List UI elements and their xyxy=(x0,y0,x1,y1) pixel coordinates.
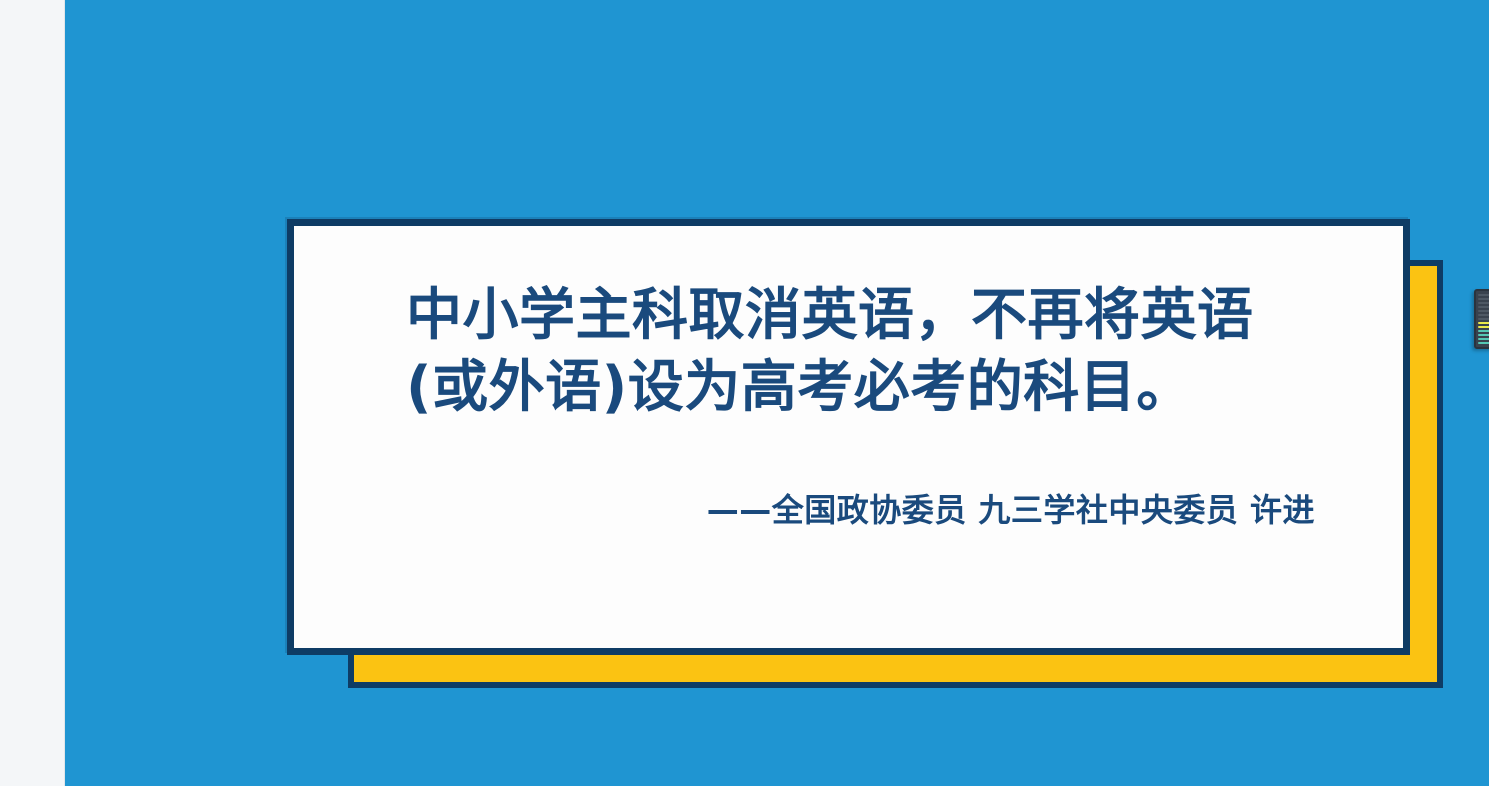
level-meter-segment xyxy=(1478,314,1489,316)
level-meter-segment xyxy=(1478,326,1489,328)
level-meter-segment xyxy=(1478,342,1489,344)
level-meter-segment xyxy=(1478,330,1489,332)
level-meter-segment xyxy=(1478,306,1489,308)
slide-stage: 中小学主科取消英语，不再将英语(或外语)设为高考必考的科目。 ——全国政协委员 … xyxy=(0,0,1489,786)
level-meter-segment xyxy=(1478,338,1489,340)
headline-line-2: (或外语)设为高考必考的科目。 xyxy=(406,355,1193,420)
level-meter-segment xyxy=(1478,294,1489,296)
quote-card: 中小学主科取消英语，不再将英语(或外语)设为高考必考的科目。 ——全国政协委员 … xyxy=(287,219,1410,655)
level-meter-widget[interactable] xyxy=(1474,289,1489,349)
quote-card-content: 中小学主科取消英语，不再将英语(或外语)设为高考必考的科目。 ——全国政协委员 … xyxy=(294,226,1403,648)
level-meter-segment xyxy=(1478,322,1489,324)
headline-line-1: 中小学主科取消英语，不再将英语 xyxy=(406,283,1254,348)
page-left-gutter xyxy=(0,0,65,786)
level-meter-segment xyxy=(1478,310,1489,312)
attribution-text: ——全国政协委员 九三学社中央委员 许进 xyxy=(707,485,1315,531)
attribution-row: ——全国政协委员 九三学社中央委员 许进 xyxy=(406,485,1343,531)
level-meter-segment xyxy=(1478,334,1489,336)
slide-blue-canvas: 中小学主科取消英语，不再将英语(或外语)设为高考必考的科目。 ——全国政协委员 … xyxy=(65,0,1489,786)
level-meter-segment xyxy=(1478,318,1489,320)
level-meter-segment xyxy=(1478,298,1489,300)
level-meter-segment xyxy=(1478,302,1489,304)
page-title: 中小学主科取消英语，不再将英语(或外语)设为高考必考的科目。 xyxy=(406,280,1343,423)
